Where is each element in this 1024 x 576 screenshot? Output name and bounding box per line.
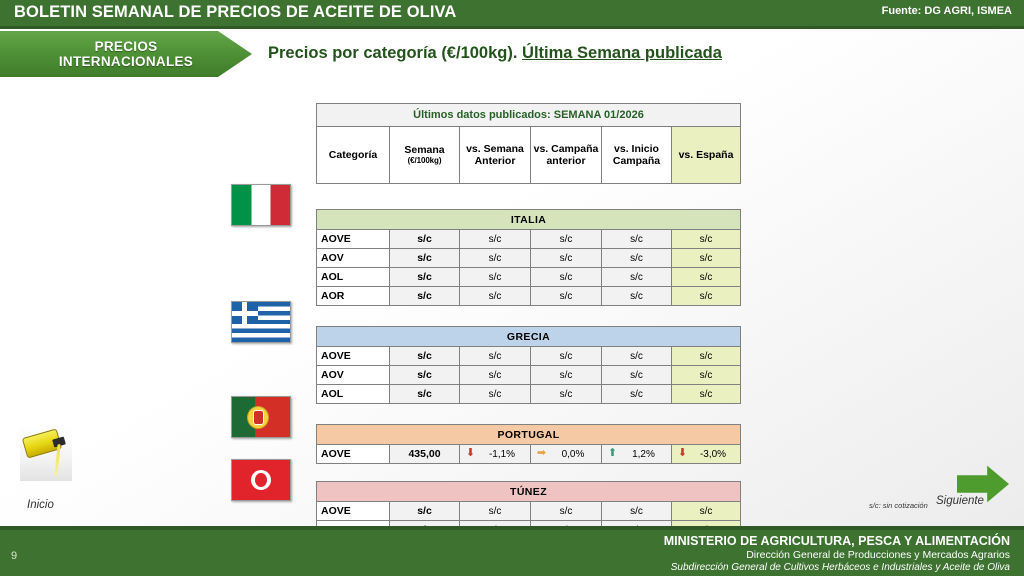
footer-ministry: MINISTERIO DE AGRICULTURA, PESCA Y ALIME… [664, 534, 1010, 548]
cell-vs-semana: s/c [460, 502, 531, 521]
cell-categoria: AOVE [317, 445, 390, 464]
cell-semana: s/c [390, 230, 460, 249]
cell-vs-semana: s/c [460, 287, 531, 306]
cell-semana: s/c [390, 268, 460, 287]
cell-vs-campana: s/c [531, 268, 602, 287]
cell-vs-semana: s/c [460, 385, 531, 404]
tunisia-flag-star: ★ [256, 475, 266, 486]
col-header-semana: Semana (€/100kg) [390, 127, 460, 184]
section-banner-line1: PRECIOS [95, 39, 158, 54]
cell-categoria: AOV [317, 249, 390, 268]
cell-semana: s/c [390, 366, 460, 385]
cell-vs-espana: s/c [672, 366, 741, 385]
cell-vs-campana: s/c [531, 385, 602, 404]
country-table-grecia: GRECIAAOVEs/cs/cs/cs/cs/cAOVs/cs/cs/cs/c… [316, 326, 741, 404]
footer-subdireccion: Subdirección General de Cultivos Herbáce… [671, 562, 1010, 573]
cell-vs-inicio: s/c [602, 287, 672, 306]
cell-vs-semana: s/c [460, 268, 531, 287]
cell-vs-campana: ➡0,0% [531, 445, 602, 464]
page-title: Precios por categoría (€/100kg). Última … [268, 44, 722, 63]
table-header-columns-row: Categoría Semana (€/100kg) vs. Semana An… [317, 127, 741, 184]
cell-semana: s/c [390, 347, 460, 366]
table-header-caption: Últimos datos publicados: SEMANA 01/2026 [317, 104, 741, 127]
cell-vs-espana: s/c [672, 385, 741, 404]
legend-note: s/c: sin cotización [869, 501, 928, 510]
page-number: 9 [11, 550, 17, 562]
cell-vs-espana: s/c [672, 347, 741, 366]
table-row: AORs/cs/cs/cs/cs/c [317, 287, 741, 306]
table-header-legend: Últimos datos publicados: SEMANA 01/2026… [316, 103, 741, 184]
cell-vs-espana: s/c [672, 249, 741, 268]
country-name-grecia: GRECIA [317, 327, 741, 347]
page-title-underlined: Última Semana publicada [522, 44, 722, 62]
cell-vs-semana: s/c [460, 347, 531, 366]
country-table-italia: ITALIAAOVEs/cs/cs/cs/cs/cAOVs/cs/cs/cs/c… [316, 209, 741, 306]
cell-vs-inicio: s/c [602, 347, 672, 366]
cell-vs-semana: ⬇-1,1% [460, 445, 531, 464]
arrow-down-icon: ⬇ [677, 448, 688, 460]
col-header-vs-campana-anterior: vs. Campaña anterior [531, 127, 602, 184]
inicio-link[interactable]: Inicio [27, 499, 54, 511]
cell-vs-campana: s/c [531, 347, 602, 366]
cell-categoria: AOR [317, 287, 390, 306]
country-name-portugal: PORTUGAL [317, 425, 741, 445]
cell-vs-campana: s/c [531, 249, 602, 268]
country-table-portugal: PORTUGALAOVE435,00⬇-1,1%➡0,0%⬆1,2%⬇-3,0% [316, 424, 741, 464]
arrow-flat-icon: ➡ [536, 448, 547, 460]
portugal-flag [231, 396, 291, 438]
country-title-row: GRECIA [317, 327, 741, 347]
country-title-row: TÚNEZ [317, 482, 741, 502]
greece-flag-canton [232, 302, 258, 324]
cell-categoria: AOVE [317, 502, 390, 521]
col-header-categoria: Categoría [317, 127, 390, 184]
footer-direccion-general: Dirección General de Producciones y Merc… [746, 549, 1010, 561]
footer-bar: MINISTERIO DE AGRICULTURA, PESCA Y ALIME… [0, 530, 1024, 576]
cell-vs-inicio: s/c [602, 249, 672, 268]
arrow-up-icon: ⬆ [607, 448, 618, 460]
col-header-vs-inicio-campana: vs. Inicio Campaña [602, 127, 672, 184]
cell-semana: 435,00 [390, 445, 460, 464]
slide-canvas: PRECIOS INTERNACIONALES Precios por cate… [0, 29, 1024, 526]
cell-vs-espana: s/c [672, 287, 741, 306]
source-label: Fuente: DG AGRI, ISMEA [882, 5, 1012, 17]
cell-vs-espana: s/c [672, 230, 741, 249]
olive-oil-icon[interactable] [20, 424, 72, 481]
country-name-italia: ITALIA [317, 210, 741, 230]
greece-flag [231, 301, 291, 343]
cell-categoria: AOL [317, 385, 390, 404]
table-row: AOVEs/cs/cs/cs/cs/c [317, 347, 741, 366]
section-banner-line2: INTERNACIONALES [59, 54, 193, 69]
cell-semana: s/c [390, 385, 460, 404]
cell-semana: s/c [390, 287, 460, 306]
tunisia-flag: ★ [231, 459, 291, 501]
boletin-title: BOLETIN SEMANAL DE PRECIOS DE ACEITE DE … [14, 3, 456, 22]
cell-vs-inicio: s/c [602, 366, 672, 385]
cell-vs-inicio: s/c [602, 268, 672, 287]
table-row: AOVs/cs/cs/cs/cs/c [317, 366, 741, 385]
cell-categoria: AOL [317, 268, 390, 287]
cell-vs-inicio: s/c [602, 385, 672, 404]
cell-vs-inicio: s/c [602, 502, 672, 521]
col-header-semana-unit: (€/100kg) [390, 156, 459, 165]
table-row: AOVEs/cs/cs/cs/cs/c [317, 502, 741, 521]
country-name-túnez: TÚNEZ [317, 482, 741, 502]
table-row: AOLs/cs/cs/cs/cs/c [317, 268, 741, 287]
cell-categoria: AOV [317, 366, 390, 385]
arrow-down-icon: ⬇ [465, 448, 476, 460]
cell-vs-semana: s/c [460, 366, 531, 385]
table-row: AOVEs/cs/cs/cs/cs/c [317, 230, 741, 249]
cell-semana: s/c [390, 249, 460, 268]
cell-vs-inicio: s/c [602, 230, 672, 249]
section-banner-precios-internacionales[interactable]: PRECIOS INTERNACIONALES [0, 31, 252, 77]
col-header-semana-label: Semana [404, 144, 444, 156]
cell-categoria: AOVE [317, 230, 390, 249]
country-title-row: ITALIA [317, 210, 741, 230]
table-row: AOVE435,00⬇-1,1%➡0,0%⬆1,2%⬇-3,0% [317, 445, 741, 464]
cell-vs-campana: s/c [531, 502, 602, 521]
cell-categoria: AOVE [317, 347, 390, 366]
col-header-vs-semana-anterior: vs. Semana Anterior [460, 127, 531, 184]
italy-flag [231, 184, 291, 226]
portugal-flag-crest [247, 406, 269, 429]
cell-vs-inicio: ⬆1,2% [602, 445, 672, 464]
table-row: AOLs/cs/cs/cs/cs/c [317, 385, 741, 404]
cell-vs-campana: s/c [531, 287, 602, 306]
cell-vs-espana: s/c [672, 502, 741, 521]
siguiente-link[interactable]: Siguiente [936, 495, 984, 507]
cell-vs-espana: ⬇-3,0% [672, 445, 741, 464]
cell-vs-semana: s/c [460, 230, 531, 249]
cell-vs-espana: s/c [672, 268, 741, 287]
cell-vs-campana: s/c [531, 230, 602, 249]
country-title-row: PORTUGAL [317, 425, 741, 445]
table-header-caption-row: Últimos datos publicados: SEMANA 01/2026 [317, 104, 741, 127]
page-title-prefix: Precios por categoría (€/100kg). [268, 44, 522, 62]
cell-vs-semana: s/c [460, 249, 531, 268]
col-header-vs-espana: vs. España [672, 127, 741, 184]
cell-semana: s/c [390, 502, 460, 521]
table-row: AOVs/cs/cs/cs/cs/c [317, 249, 741, 268]
cell-vs-campana: s/c [531, 366, 602, 385]
